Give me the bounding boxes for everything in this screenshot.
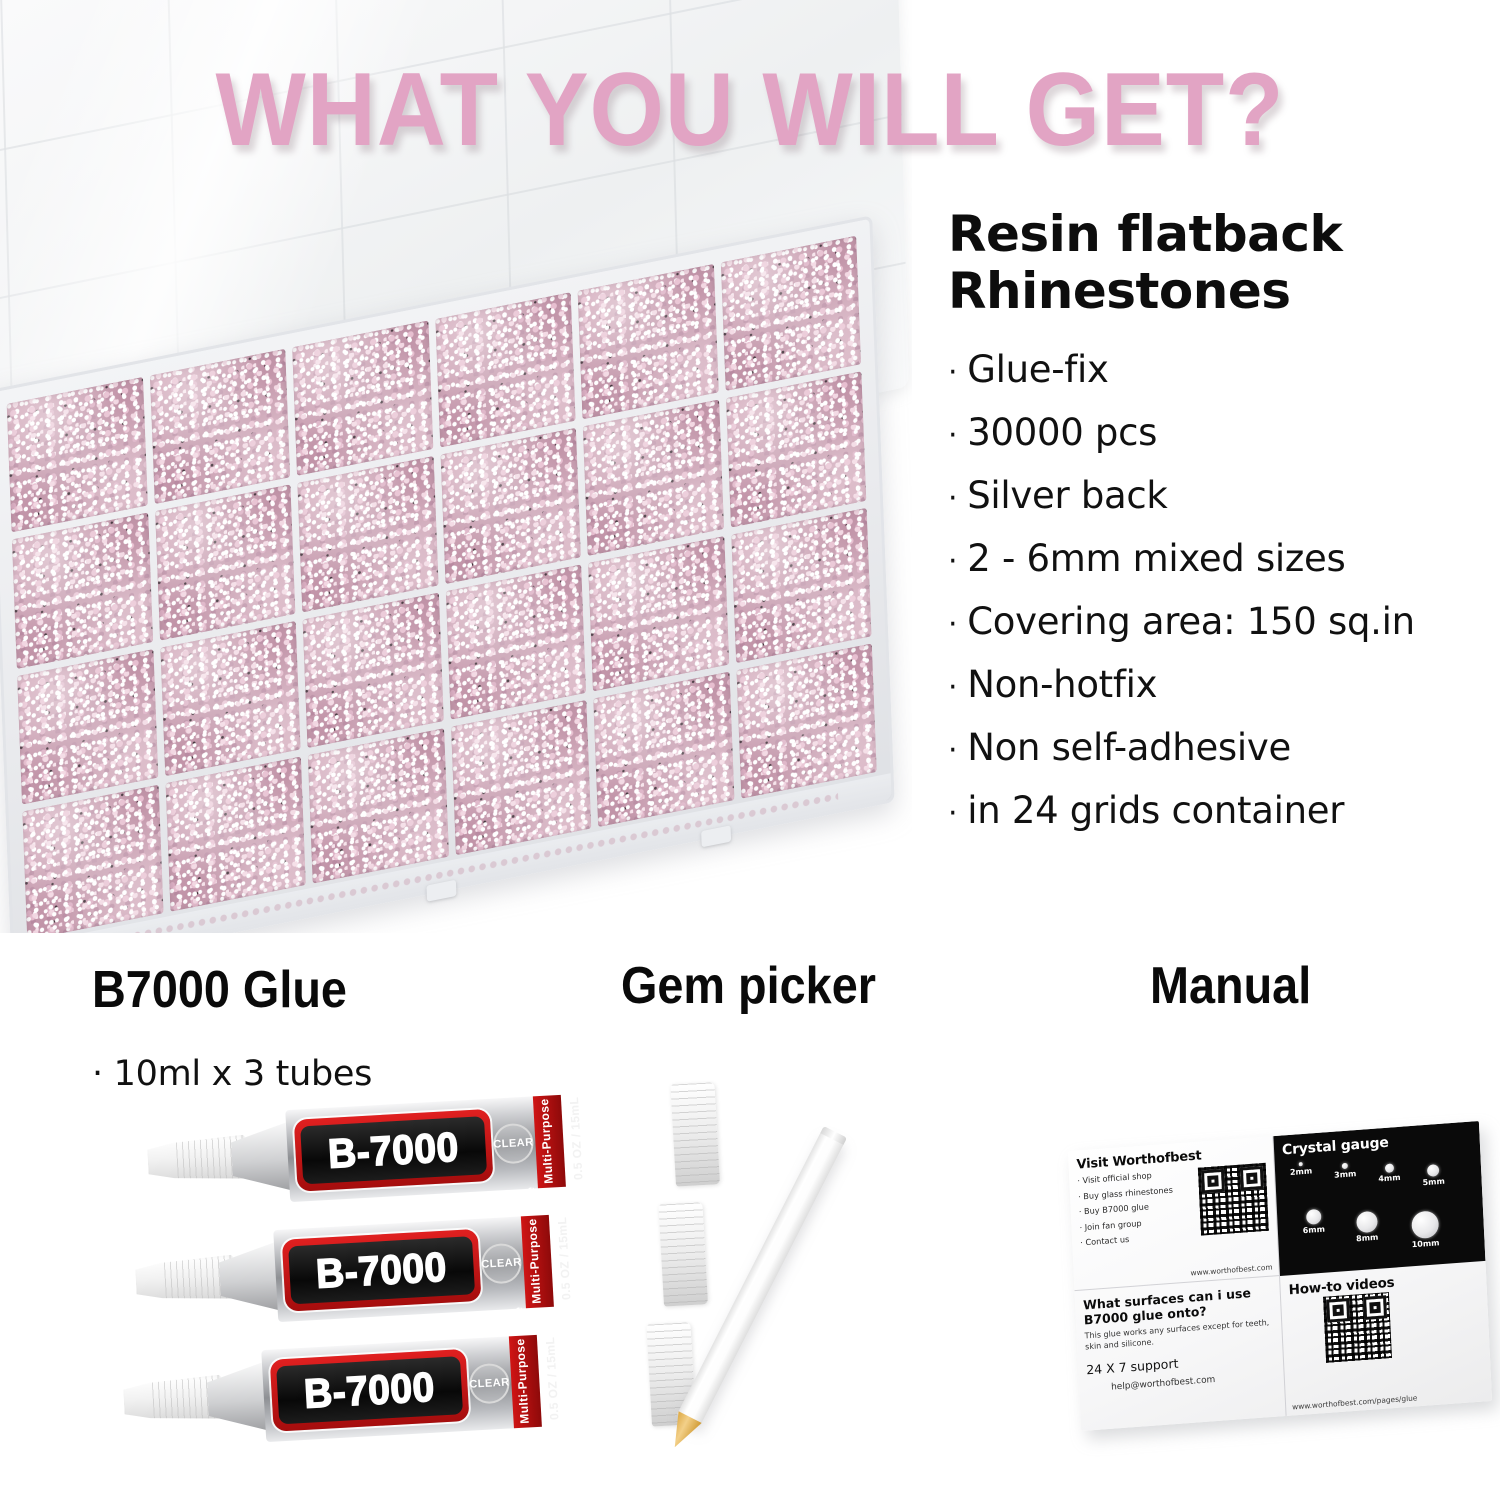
spec-item-label: 30000 pcs (967, 401, 1157, 464)
spec-item-label: Silver back (967, 464, 1167, 527)
tube-brand-text: B-7000 (315, 1243, 448, 1297)
spec-item: · Silver back (948, 464, 1500, 527)
manual-quadrant-surfaces: What surfaces can i use B7000 glue onto?… (1075, 1276, 1287, 1431)
spec-title-line1: Resin flatback (948, 206, 1500, 263)
rhinestone-cell (588, 536, 729, 692)
tube-body: B-7000 CLEAR Multi-Purpose Glue 0.5 OZ /… (273, 1216, 530, 1322)
glue-tube: B-7000 CLEAR Multi-Purpose Glue 0.5 OZ /… (145, 1092, 580, 1212)
rhinestone-cell (450, 700, 591, 856)
spec-item-label: 2 - 6mm mixed sizes (967, 527, 1345, 590)
spec-item: · Covering area: 150 sq.in (948, 590, 1500, 653)
gem-dot-icon (1305, 1209, 1321, 1225)
support-email: help@worthofbest.com (1111, 1371, 1276, 1393)
gauge-size-label: 5mm (1414, 1176, 1454, 1188)
rhinestone-cell (578, 264, 719, 420)
crystal-gauge-title: Crystal gauge (1282, 1129, 1472, 1159)
gauge-item: 3mm (1325, 1161, 1366, 1180)
rhinestone-cell (440, 428, 581, 584)
pencil-wax-tip (663, 1411, 702, 1453)
rhinestone-cell (731, 507, 872, 663)
tube-volume-text: 0.5 OZ / 15mL (543, 1342, 561, 1421)
gem-dot-icon (1427, 1164, 1440, 1177)
manual-section-heading: Manual (1150, 958, 1311, 1014)
gauge-item: 6mm (1291, 1208, 1336, 1236)
tube-clear-label: CLEAR (493, 1136, 534, 1150)
tube-body: B-7000 CLEAR Multi-Purpose Glue 0.5 OZ /… (285, 1096, 542, 1202)
tube-body: B-7000 CLEAR Multi-Purpose Glue 0.5 OZ /… (261, 1336, 518, 1442)
gem-dot-icon (1411, 1210, 1439, 1239)
gauge-size-label: 6mm (1292, 1224, 1336, 1236)
tube-label-frame: B-7000 (294, 1109, 494, 1192)
tube-volume-text: 0.5 OZ / 15mL (567, 1102, 585, 1181)
qr-code-icon (1323, 1292, 1392, 1363)
bullet-icon: · (948, 547, 957, 577)
spec-item: · Non self-adhesive (948, 716, 1500, 779)
tube-label-plate: B-7000 (300, 1116, 487, 1184)
tube-clear-badge: CLEAR (492, 1122, 534, 1164)
tube-clear-badge: CLEAR (468, 1362, 510, 1404)
gem-dot-icon (1356, 1211, 1378, 1234)
tube-label-plate: B-7000 (276, 1356, 463, 1424)
gauge-size-label: 4mm (1369, 1172, 1409, 1184)
tube-label-frame: B-7000 (282, 1229, 482, 1312)
rhinestone-cell (22, 784, 163, 933)
rhinestone-cell (160, 620, 301, 776)
rhinestone-cell (165, 756, 306, 912)
spec-item-label: Non self-adhesive (967, 716, 1291, 779)
gauge-item: 10mm (1399, 1209, 1451, 1250)
manual-card: Visit Worthofbest · Visit official shop … (1068, 1121, 1492, 1431)
spec-item: · Non-hotfix (948, 653, 1500, 716)
gauge-size-label: 2mm (1281, 1166, 1321, 1178)
rhinestone-cell (303, 592, 444, 748)
manual-quadrant-visit: Visit Worthofbest · Visit official shop … (1068, 1136, 1280, 1291)
gauge-item: 8mm (1343, 1210, 1390, 1244)
rhinestone-cell (17, 649, 158, 805)
glue-tube: B-7000 CLEAR Multi-Purpose Glue 0.5 OZ /… (133, 1212, 568, 1332)
gem-dot-icon (1384, 1163, 1393, 1173)
rhinestone-spec-panel: Resin flatback Rhinestones · Glue-fix · … (948, 206, 1500, 842)
gauge-item: 4mm (1369, 1162, 1410, 1184)
bullet-icon: · (948, 736, 957, 766)
bullet-icon: · (948, 610, 957, 640)
bullet-icon: · (948, 421, 957, 451)
rhinestone-cell (292, 320, 433, 476)
tube-volume-text: 0.5 OZ / 15mL (555, 1222, 573, 1301)
rhinestone-cell (7, 377, 148, 533)
glue-tubes-photo: B-7000 CLEAR Multi-Purpose Glue 0.5 OZ /… (70, 1110, 590, 1492)
spec-item: · 2 - 6mm mixed sizes (948, 527, 1500, 590)
gem-dot-icon (1299, 1162, 1303, 1166)
spec-item: · 30000 pcs (948, 401, 1500, 464)
tube-brand-text: B-7000 (303, 1363, 436, 1417)
rhinestone-cell (297, 456, 438, 612)
glue-section-heading: B7000 Glue (92, 962, 347, 1018)
spec-item-label: Covering area: 150 sq.in (967, 590, 1415, 653)
qr-code-icon (1198, 1163, 1269, 1236)
rhinestone-cell (149, 349, 290, 505)
manual-card-photo: Visit Worthofbest · Visit official shop … (1068, 1128, 1500, 1444)
rhinestone-cell (155, 485, 296, 641)
gauge-item: 5mm (1413, 1163, 1454, 1188)
spec-item-label: in 24 grids container (967, 779, 1344, 842)
rhinestone-cell (720, 236, 861, 392)
rhinestone-cell (308, 728, 449, 884)
spec-title-line2: Rhinestones (948, 263, 1500, 320)
rhinestone-cell (593, 671, 734, 827)
rhinestone-cell (435, 292, 576, 448)
tube-clear-label: CLEAR (481, 1256, 522, 1270)
pencil-blunt-end (820, 1126, 847, 1145)
rhinestone-cell (725, 372, 866, 528)
rhinestone-cell (736, 643, 877, 799)
rhinestone-cell (12, 513, 153, 669)
gauge-size-label: 3mm (1325, 1168, 1365, 1180)
rhinestone-cell (445, 564, 586, 720)
spec-title: Resin flatback Rhinestones (948, 206, 1500, 320)
rhinestone-cell (583, 400, 724, 556)
bullet-icon: · (948, 673, 957, 703)
tube-label-plate: B-7000 (288, 1236, 475, 1304)
gem-dot-icon (1342, 1163, 1348, 1169)
picker-section-heading: Gem picker (621, 958, 876, 1014)
spec-item-label: Non-hotfix (967, 653, 1157, 716)
tube-clear-badge: CLEAR (480, 1242, 522, 1284)
spec-item: · Glue-fix (948, 338, 1500, 401)
spec-list: · Glue-fix · 30000 pcs · Silver back · 2… (948, 338, 1500, 842)
visit-url: www.worthofbest.com (1190, 1263, 1272, 1278)
gauge-size-label: 8mm (1344, 1232, 1390, 1244)
tube-brand-text: B-7000 (327, 1123, 460, 1177)
tube-clear-label: CLEAR (469, 1376, 510, 1390)
bullet-icon: · (948, 358, 957, 388)
gauge-size-label: 10mm (1400, 1237, 1450, 1250)
glue-section-subtitle: · 10ml x 3 tubes (92, 1052, 372, 1096)
glue-tube: B-7000 CLEAR Multi-Purpose Glue 0.5 OZ /… (121, 1332, 556, 1452)
gauge-item: 2mm (1281, 1161, 1322, 1178)
spec-item-label: Glue-fix (967, 338, 1108, 401)
manual-quadrant-crystal-gauge: Crystal gauge 2mm 3mm 4mm 5mm 6mm (1273, 1121, 1485, 1276)
manual-quadrant-howto: How-to videos www.worthofbest.com/pages/… (1280, 1261, 1492, 1416)
spec-item: · in 24 grids container (948, 779, 1500, 842)
gem-picker-pencil (677, 1130, 845, 1427)
bullet-icon: · (948, 799, 957, 829)
howto-url: www.worthofbest.com/pages/glue (1292, 1393, 1418, 1411)
bullet-icon: · (948, 484, 957, 514)
rhinestone-box-photo (0, 0, 912, 933)
gem-picker-photo (630, 1090, 960, 1490)
tube-label-frame: B-7000 (270, 1349, 470, 1432)
